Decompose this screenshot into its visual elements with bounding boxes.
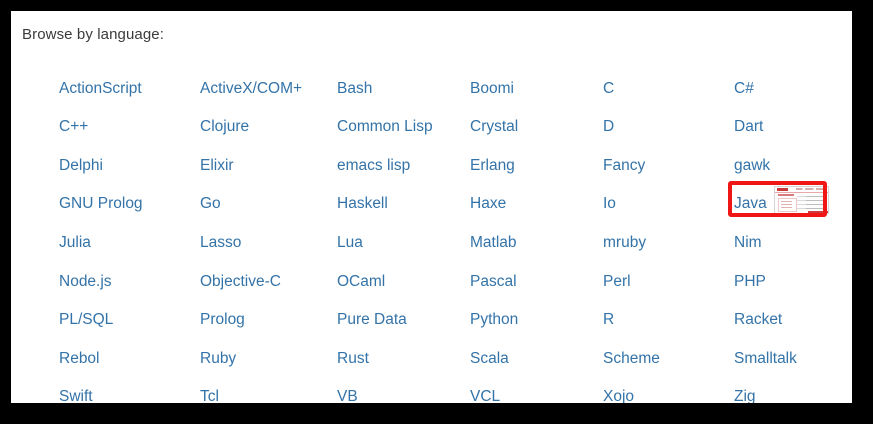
language-cell: Ruby [200, 339, 337, 378]
language-cell: Julia [59, 223, 200, 262]
language-cell: C [603, 69, 734, 108]
language-cell: Matlab [470, 223, 603, 262]
language-link-java[interactable]: Java [734, 196, 767, 212]
language-link-go[interactable]: Go [200, 196, 221, 212]
language-link-emacs-lisp[interactable]: emacs lisp [337, 158, 410, 174]
language-cell: Swift [59, 378, 200, 403]
language-cell: Lua [337, 223, 470, 262]
language-link-bash[interactable]: Bash [337, 81, 372, 97]
language-link-php[interactable]: PHP [734, 274, 766, 290]
language-link-scheme[interactable]: Scheme [603, 351, 660, 367]
language-link-prolog[interactable]: Prolog [200, 312, 245, 328]
language-cell: Dart [734, 108, 849, 147]
language-link-actionscript[interactable]: ActionScript [59, 81, 142, 97]
language-cell: Crystal [470, 108, 603, 147]
language-cell: Lasso [200, 223, 337, 262]
language-cell: Haxe [470, 185, 603, 224]
language-link-matlab[interactable]: Matlab [470, 235, 517, 251]
language-cell: Io [603, 185, 734, 224]
language-cell: C# [734, 69, 849, 108]
language-cell: Elixir [200, 146, 337, 185]
language-cell: Fancy [603, 146, 734, 185]
language-link-vcl[interactable]: VCL [470, 389, 500, 403]
language-cell: ActiveX/COM+ [200, 69, 337, 108]
language-link-ocaml[interactable]: OCaml [337, 274, 385, 290]
language-link-pure-data[interactable]: Pure Data [337, 312, 407, 328]
language-link-haskell[interactable]: Haskell [337, 196, 388, 212]
language-link-ruby[interactable]: Ruby [200, 351, 236, 367]
language-link-mruby[interactable]: mruby [603, 235, 646, 251]
language-link-elixir[interactable]: Elixir [200, 158, 234, 174]
language-cell: Prolog [200, 301, 337, 340]
language-link-nim[interactable]: Nim [734, 235, 762, 251]
language-link-c[interactable]: C [603, 81, 614, 97]
screenshot-frame: Browse by language: ActionScriptActiveX/… [0, 0, 873, 424]
language-link-racket[interactable]: Racket [734, 312, 782, 328]
language-link-pascal[interactable]: Pascal [470, 274, 517, 290]
language-cell: Xojo [603, 378, 734, 403]
page-content: Browse by language: ActionScriptActiveX/… [11, 11, 852, 403]
language-cell: Tcl [200, 378, 337, 403]
language-cell: gawk [734, 146, 849, 185]
language-cell: Racket [734, 301, 849, 340]
language-link-objective-c[interactable]: Objective-C [200, 274, 281, 290]
language-cell: mruby [603, 223, 734, 262]
language-cell: VCL [470, 378, 603, 403]
language-cell: Smalltalk [734, 339, 849, 378]
language-link-crystal[interactable]: Crystal [470, 119, 518, 135]
language-cell: Erlang [470, 146, 603, 185]
language-cell: Boomi [470, 69, 603, 108]
language-link-swift[interactable]: Swift [59, 389, 93, 403]
language-cell: VB [337, 378, 470, 403]
language-cell: Scala [470, 339, 603, 378]
language-link-d[interactable]: D [603, 119, 614, 135]
language-link-pl-sql[interactable]: PL/SQL [59, 312, 113, 328]
language-link-scala[interactable]: Scala [470, 351, 509, 367]
language-link-vb[interactable]: VB [337, 389, 358, 403]
language-link-perl[interactable]: Perl [603, 274, 631, 290]
language-link-io[interactable]: Io [603, 196, 616, 212]
language-cell: emacs lisp [337, 146, 470, 185]
language-link-common-lisp[interactable]: Common Lisp [337, 119, 433, 135]
language-cell: Pure Data [337, 301, 470, 340]
language-cell: C++ [59, 108, 200, 147]
language-cell: Bash [337, 69, 470, 108]
language-link-erlang[interactable]: Erlang [470, 158, 515, 174]
language-link-delphi[interactable]: Delphi [59, 158, 103, 174]
language-link-c[interactable]: C# [734, 81, 754, 97]
language-cell: R [603, 301, 734, 340]
language-link-r[interactable]: R [603, 312, 614, 328]
language-cell: Zig [734, 378, 849, 403]
language-cell: Pascal [470, 262, 603, 301]
language-cell: Python [470, 301, 603, 340]
language-cell: Node.js [59, 262, 200, 301]
language-link-tcl[interactable]: Tcl [200, 389, 219, 403]
language-cell: PHP [734, 262, 849, 301]
language-link-c[interactable]: C++ [59, 119, 88, 135]
language-cell: ActionScript [59, 69, 200, 108]
language-cell: PL/SQL [59, 301, 200, 340]
language-cell: Clojure [200, 108, 337, 147]
language-cell: GNU Prolog [59, 185, 200, 224]
language-cell: Java [734, 185, 849, 224]
language-cell: Nim [734, 223, 849, 262]
language-link-dart[interactable]: Dart [734, 119, 763, 135]
language-link-lasso[interactable]: Lasso [200, 235, 241, 251]
language-cell: Scheme [603, 339, 734, 378]
language-link-zig[interactable]: Zig [734, 389, 756, 403]
language-list-grid: ActionScriptActiveX/COM+BashBoomiCC#C++C… [59, 69, 849, 403]
language-link-node-js[interactable]: Node.js [59, 274, 112, 290]
language-link-boomi[interactable]: Boomi [470, 81, 514, 97]
language-cell: Delphi [59, 146, 200, 185]
language-link-smalltalk[interactable]: Smalltalk [734, 351, 797, 367]
language-cell: Haskell [337, 185, 470, 224]
language-cell: Rebol [59, 339, 200, 378]
language-link-python[interactable]: Python [470, 312, 518, 328]
language-link-activex-com[interactable]: ActiveX/COM+ [200, 81, 302, 97]
page-title: Browse by language: [22, 26, 164, 43]
language-link-xojo[interactable]: Xojo [603, 389, 634, 403]
language-cell: Objective-C [200, 262, 337, 301]
language-cell: Go [200, 185, 337, 224]
language-link-clojure[interactable]: Clojure [200, 119, 249, 135]
language-link-haxe[interactable]: Haxe [470, 196, 506, 212]
java-page-preview-thumbnail [774, 186, 829, 214]
language-cell: OCaml [337, 262, 470, 301]
language-link-julia[interactable]: Julia [59, 235, 91, 251]
language-link-fancy[interactable]: Fancy [603, 158, 645, 174]
language-link-rebol[interactable]: Rebol [59, 351, 100, 367]
language-cell: D [603, 108, 734, 147]
language-link-rust[interactable]: Rust [337, 351, 369, 367]
language-link-lua[interactable]: Lua [337, 235, 363, 251]
language-link-gnu-prolog[interactable]: GNU Prolog [59, 196, 143, 212]
language-link-gawk[interactable]: gawk [734, 158, 770, 174]
language-cell: Rust [337, 339, 470, 378]
language-cell: Perl [603, 262, 734, 301]
language-cell: Common Lisp [337, 108, 470, 147]
